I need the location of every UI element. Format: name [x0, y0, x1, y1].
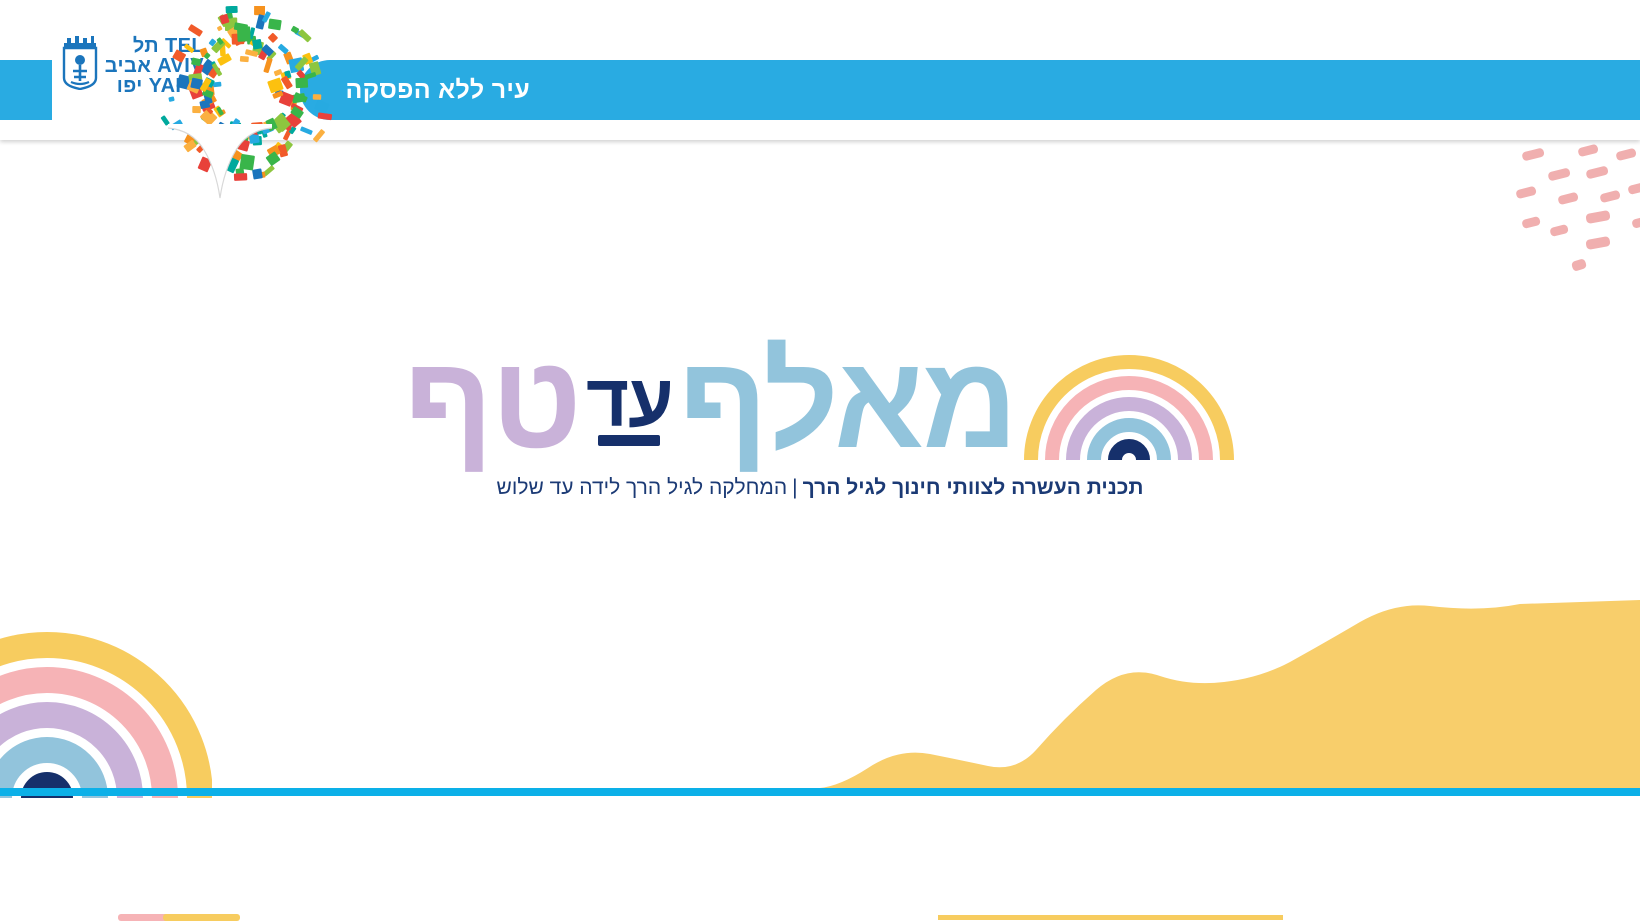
- header-drip-shape: [168, 124, 272, 202]
- blue-divider-rule: [0, 788, 1640, 796]
- hero-title-word-ad: עד: [586, 368, 673, 433]
- hero-subtitle: תכנית העשרה לצוותי חינוך לגיל הרך|המחלקה…: [497, 476, 1144, 500]
- hero-subtitle-bold: תכנית העשרה לצוותי חינוך לגיל הרך: [803, 476, 1144, 499]
- hero-title-word-ad-wrap: עד: [586, 368, 673, 446]
- hero-title-underline: [598, 435, 660, 446]
- pink-confetti-decoration: [1430, 140, 1640, 280]
- hero-title-word-taf: טף: [404, 341, 580, 462]
- yellow-hill-decoration: [820, 600, 1640, 792]
- card-edge-yellow-large: [938, 915, 1283, 920]
- hero-subtitle-separator: |: [792, 476, 797, 499]
- rainbow-logo-icon: [1022, 350, 1236, 462]
- rainbow-decoration-bottom-left: [0, 588, 212, 798]
- card-edge-yellow-small: [163, 914, 240, 921]
- hero-subtitle-regular: המחלקה לגיל הרך לידה עד שלוש: [497, 476, 788, 499]
- hero-section: מאלף עד טף תכנית העשרה לצוותי חינוך לגיל…: [0, 330, 1640, 530]
- hero-title-row: מאלף עד טף: [404, 330, 1236, 462]
- header-slogan-text: עיר ללא הפסקה: [346, 76, 530, 105]
- hero-title-word-maleph: מאלף: [679, 341, 1016, 462]
- site-header: עיר ללא הפסקה TEL תל AVIV אביב YAFO יפו: [0, 0, 1640, 140]
- logo-he-line3: יפו: [117, 75, 143, 97]
- logo-he-line2: אביב: [105, 55, 151, 77]
